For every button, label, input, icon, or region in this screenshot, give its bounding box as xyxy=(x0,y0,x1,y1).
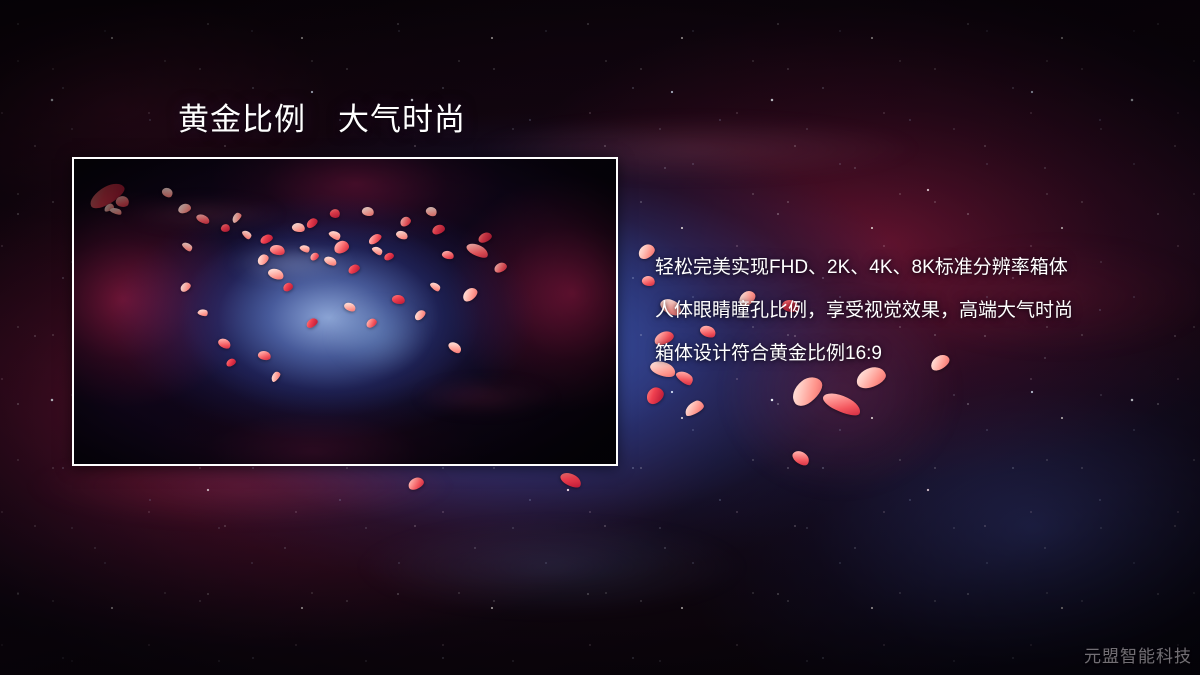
body-text-block: 轻松完美实现FHD、2K、4K、8K标准分辨率箱体 人体眼睛瞳孔比例，享受视觉效… xyxy=(655,258,1175,363)
watermark-label: 元盟智能科技 xyxy=(1084,642,1192,667)
photo-vignette xyxy=(74,159,616,464)
nebula-photo xyxy=(74,159,616,464)
body-text-line: 人体眼睛瞳孔比例，享受视觉效果，高端大气时尚 xyxy=(655,301,1175,320)
page-title: 黄金比例 大气时尚 xyxy=(178,102,466,138)
body-text-line: 轻松完美实现FHD、2K、4K、8K标准分辨率箱体 xyxy=(655,258,1175,277)
presentation-slide: 黄金比例 大气时尚 轻松完美实现FHD、2K、4K、8K标准分辨率箱体 人体眼睛… xyxy=(0,0,1200,675)
framed-image xyxy=(72,157,618,466)
body-text-line: 箱体设计符合黄金比例16:9 xyxy=(655,344,1175,363)
